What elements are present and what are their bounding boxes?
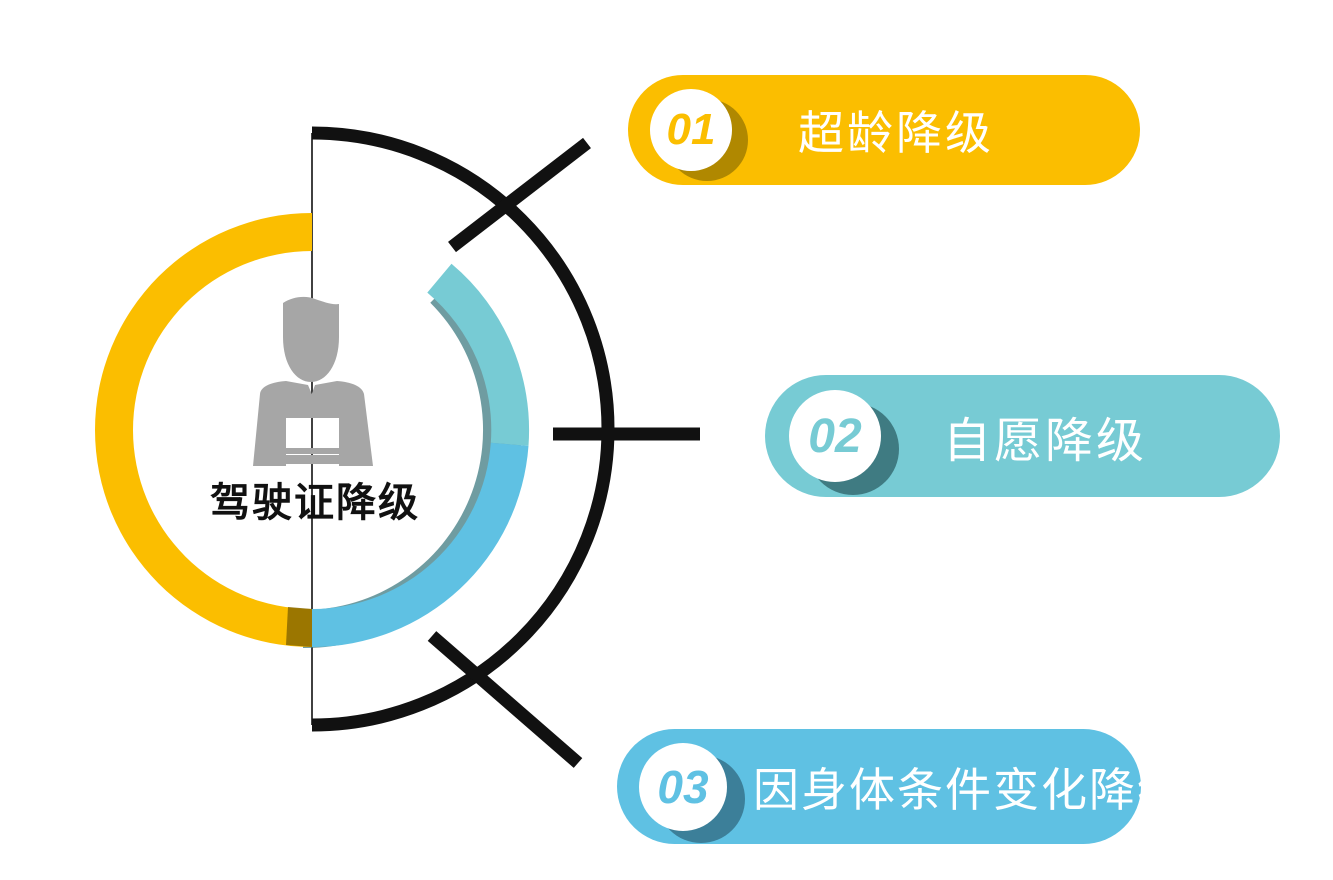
badge-number-01: 01 (650, 89, 732, 171)
badge-number-02: 02 (789, 390, 881, 482)
item-card-03[interactable]: 03 因身体条件变化降级 (617, 729, 1141, 844)
infographic-canvas: 驾驶证降级 01 超龄降级 02 自愿降级 03 因身体条件变化降级 (0, 0, 1333, 880)
center-title: 驾驶证降级 (130, 470, 500, 528)
ring-bottom-shadow-sliver (286, 607, 312, 647)
item-card-02[interactable]: 02 自愿降级 (765, 375, 1280, 497)
badge-number-03-text: 03 (657, 760, 708, 814)
badge-number-02-text: 02 (808, 409, 861, 464)
donut-diagram (0, 0, 700, 880)
item-card-01[interactable]: 01 超龄降级 (628, 75, 1140, 185)
item-label-02: 自愿降级 (943, 401, 1147, 471)
badge-number-01-text: 01 (667, 105, 716, 155)
ring-segment-teal (427, 264, 529, 446)
item-label-01: 超龄降级 (798, 97, 994, 163)
item-label-03: 因身体条件变化降级 (753, 754, 1185, 820)
badge-number-03: 03 (639, 743, 727, 831)
person-at-desk-icon (253, 297, 373, 466)
connector-line-01 (452, 143, 587, 247)
